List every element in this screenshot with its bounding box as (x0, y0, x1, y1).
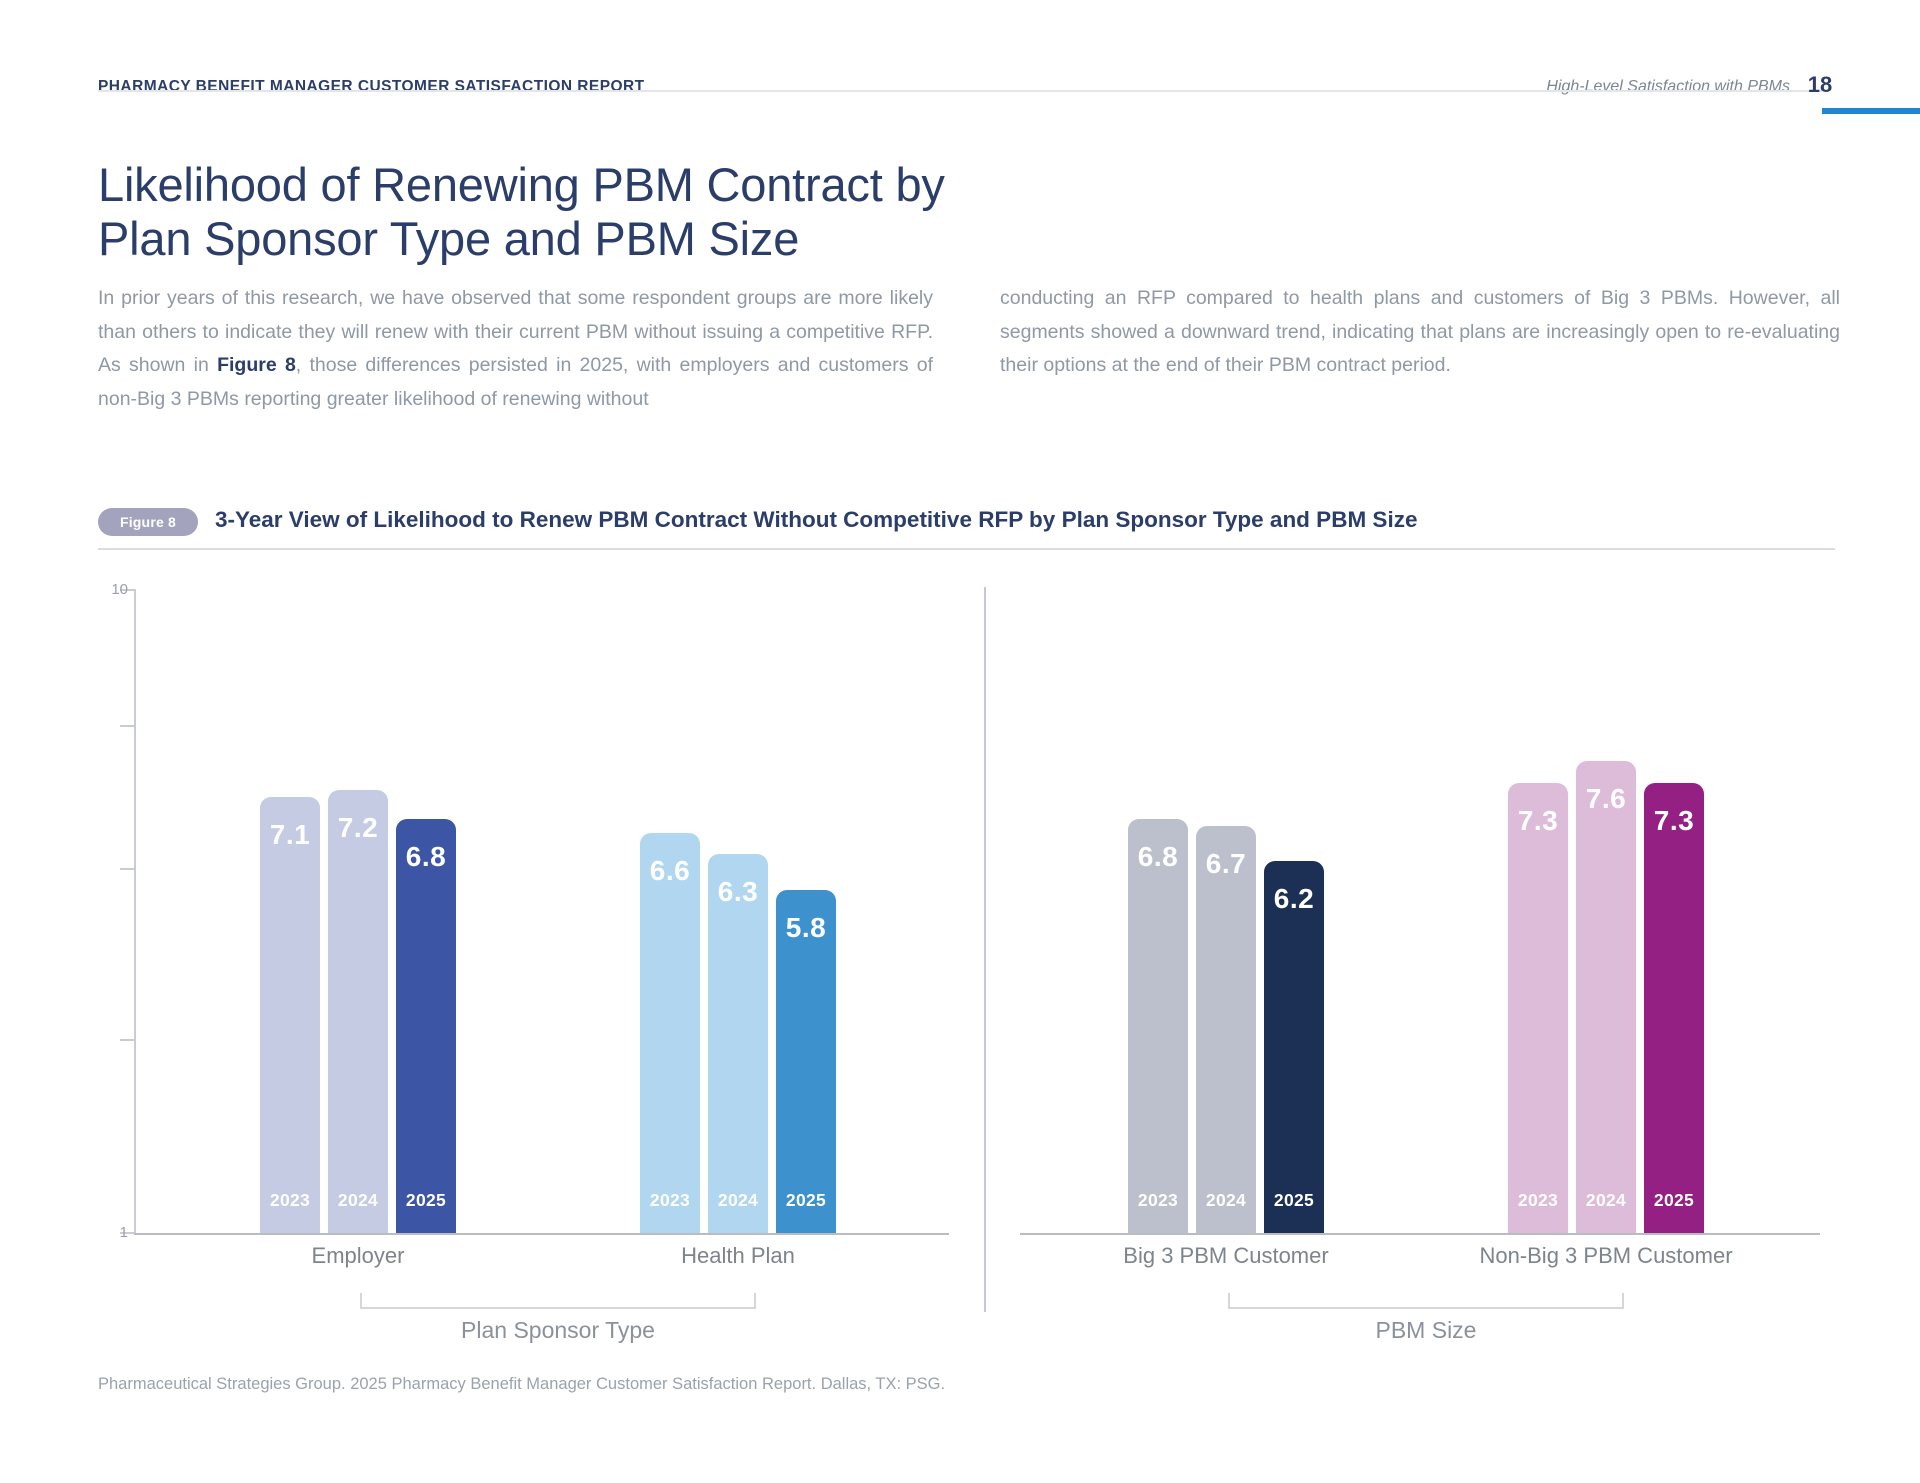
figure-badge: Figure 8 (98, 508, 198, 536)
header-report-name: PHARMACY BENEFIT MANAGER CUSTOMER SATISF… (98, 78, 645, 96)
bar-year-label: 2023 (260, 1190, 320, 1211)
bar-year-label: 2024 (708, 1190, 768, 1211)
bar-value-label: 7.3 (1644, 805, 1704, 837)
bar: 7.62024 (1576, 761, 1636, 1233)
bar-year-label: 2023 (1128, 1190, 1188, 1211)
page-number: 18 (1775, 72, 1865, 98)
bar: 6.82023 (1128, 819, 1188, 1233)
bar: 6.72024 (1196, 826, 1256, 1233)
category-label: Non-Big 3 PBM Customer (1456, 1243, 1756, 1269)
bar-value-label: 6.8 (396, 841, 456, 873)
y-axis-label: 1 (120, 1224, 128, 1241)
axis-group-bracket (1228, 1293, 1624, 1309)
bar-value-label: 6.8 (1128, 841, 1188, 873)
bar-year-label: 2025 (1644, 1190, 1704, 1211)
bar-value-label: 7.3 (1508, 805, 1568, 837)
baseline-right-panel (1020, 1233, 1820, 1235)
bar-value-label: 7.1 (260, 819, 320, 851)
header-section-name: High-Level Satisfaction with PBMs (1546, 78, 1790, 96)
report-page: PHARMACY BENEFIT MANAGER CUSTOMER SATISF… (0, 0, 1920, 1483)
bar-value-label: 7.2 (328, 812, 388, 844)
bar-year-label: 2025 (776, 1190, 836, 1211)
bar: 7.12023 (260, 797, 320, 1233)
bar: 5.82025 (776, 890, 836, 1233)
bar-year-label: 2024 (1196, 1190, 1256, 1211)
bar: 7.22024 (328, 790, 388, 1233)
y-axis-line (134, 590, 136, 1235)
figure-8-chart: 1017.120237.220246.82025Employer6.620236… (0, 575, 1920, 1355)
category-label: Big 3 PBM Customer (1096, 1243, 1356, 1269)
bar-value-label: 6.6 (640, 855, 700, 887)
page-header: PHARMACY BENEFIT MANAGER CUSTOMER SATISF… (0, 40, 1920, 92)
bar-year-label: 2023 (640, 1190, 700, 1211)
figure-reference: Figure 8 (217, 354, 296, 376)
source-citation: Pharmaceutical Strategies Group. 2025 Ph… (98, 1375, 945, 1394)
axis-group-bracket (360, 1293, 756, 1309)
header-divider (98, 90, 1822, 92)
bar: 6.32024 (708, 854, 768, 1233)
baseline-left-panel (134, 1233, 949, 1235)
y-axis-tick (120, 868, 136, 870)
bar-year-label: 2024 (328, 1190, 388, 1211)
bar-year-label: 2025 (1264, 1190, 1324, 1211)
bar: 6.82025 (396, 819, 456, 1233)
bar-value-label: 5.8 (776, 912, 836, 944)
panel-divider (984, 587, 986, 1312)
page-title: Likelihood of Renewing PBM Contract by P… (98, 158, 998, 265)
figure-caption: 3-Year View of Likelihood to Renew PBM C… (215, 507, 1417, 533)
y-axis-label: 10 (111, 581, 128, 598)
bar-value-label: 7.6 (1576, 783, 1636, 815)
bar: 7.32023 (1508, 783, 1568, 1233)
y-axis-tick (120, 1039, 136, 1041)
body-column-right: conducting an RFP compared to health pla… (1000, 282, 1840, 383)
figure-divider (98, 548, 1835, 550)
bar-value-label: 6.7 (1196, 848, 1256, 880)
bar-year-label: 2025 (396, 1190, 456, 1211)
bar: 7.32025 (1644, 783, 1704, 1233)
category-label: Employer (248, 1243, 468, 1269)
y-axis-tick (120, 725, 136, 727)
body-column-left: In prior years of this research, we have… (98, 282, 933, 416)
axis-group-title: PBM Size (1028, 1317, 1824, 1344)
bar-value-label: 6.2 (1264, 883, 1324, 915)
page-number-accent-bar (1822, 108, 1920, 114)
bar-year-label: 2024 (1576, 1190, 1636, 1211)
category-label: Health Plan (628, 1243, 848, 1269)
bar-value-label: 6.3 (708, 876, 768, 908)
bar: 6.62023 (640, 833, 700, 1233)
bar-year-label: 2023 (1508, 1190, 1568, 1211)
axis-group-title: Plan Sponsor Type (160, 1317, 956, 1344)
bar: 6.22025 (1264, 861, 1324, 1233)
